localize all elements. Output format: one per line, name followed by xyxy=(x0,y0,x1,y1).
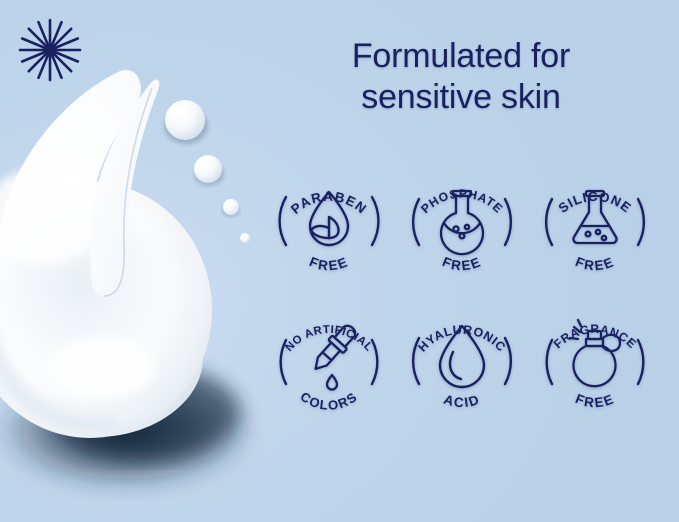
badge-bottom-label: FREE xyxy=(574,254,617,273)
badge-fragrance-free[interactable]: FRAGRANCE FREE xyxy=(536,294,654,420)
page-title: Formulated for sensitive skin xyxy=(296,36,626,118)
badge-bottom-label: ACID xyxy=(442,392,482,411)
badge-no-artificial-colors[interactable]: NO ARTIFICIAL COLORS xyxy=(270,294,388,420)
svg-text:COLORS: COLORS xyxy=(297,389,360,413)
svg-text:FREE: FREE xyxy=(574,254,617,273)
badge-hyaluronic-acid[interactable]: HYALURONIC ACID xyxy=(403,294,521,420)
svg-text:ACID: ACID xyxy=(442,392,482,411)
headline-line-1: Formulated for xyxy=(296,36,626,77)
badge-bottom-label: FREE xyxy=(574,391,617,410)
badge-silicone-free[interactable]: SILICONE FREE xyxy=(536,157,654,283)
svg-text:FREE: FREE xyxy=(574,391,617,410)
claims-badge-grid: PARABEN FREE xyxy=(262,157,662,431)
product-claims-banner: Formulated for sensitive skin PARABEN FR… xyxy=(0,0,679,522)
headline-line-2: sensitive skin xyxy=(296,77,626,118)
badge-bottom-label: FREE xyxy=(307,254,350,273)
badge-bottom-label: COLORS xyxy=(297,389,360,413)
badge-phosphate-free[interactable]: PHOSPHATE FREE xyxy=(403,157,521,283)
svg-text:FREE: FREE xyxy=(440,254,483,273)
svg-text:FREE: FREE xyxy=(307,254,350,273)
badge-paraben-free[interactable]: PARABEN FREE xyxy=(270,157,388,283)
badge-top-label: SILICONE xyxy=(556,189,635,216)
badge-bottom-label: FREE xyxy=(440,254,483,273)
cream-droplet-photo xyxy=(0,30,270,500)
svg-text:SILICONE: SILICONE xyxy=(556,189,635,216)
